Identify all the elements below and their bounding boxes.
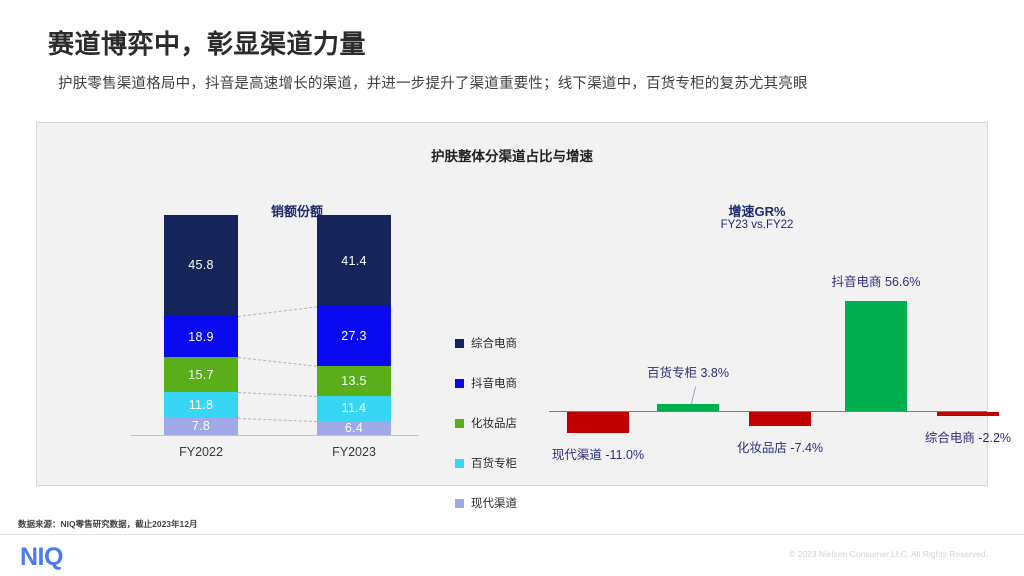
legend-swatch-icon xyxy=(455,419,464,428)
legend-swatch-icon xyxy=(455,339,464,348)
chart-panel-title: 护肤整体分渠道占比与增速 xyxy=(37,145,987,165)
legend-item-label: 百货专柜 xyxy=(471,455,517,471)
stack-segment-value: 6.4 xyxy=(345,421,363,435)
stack-segment-value: 7.8 xyxy=(192,419,210,433)
growth-bar-label: 百货专柜 3.8% xyxy=(618,362,758,381)
source-note: 数据来源：NIQ零售研究数据，截止2023年12月 xyxy=(18,518,197,530)
growth-rate-chart: 增速GR% FY23 vs.FY22 现代渠道 -11.0%百货专柜 3.8%化… xyxy=(527,183,987,483)
growth-label-leader-line xyxy=(691,386,696,404)
page-title: 赛道博弈中，彰显渠道力量 xyxy=(48,24,366,61)
stack-segment: 7.8 xyxy=(164,418,238,435)
growth-bar-label: 综合电商 -2.2% xyxy=(898,427,1024,446)
page-subtitle: 护肤零售渠道格局中，抖音是高速增长的渠道，并进一步提升了渠道重要性；线下渠道中，… xyxy=(58,72,808,93)
stacked-bar-fy2023: 41.427.313.511.46.4 xyxy=(317,215,391,435)
legend-swatch-icon xyxy=(455,459,464,468)
stack-segment: 11.8 xyxy=(164,392,238,418)
growth-chart-subheading: FY23 vs.FY22 xyxy=(527,219,987,231)
copyright-text: © 2023 Nielsen Consumer LLC. All Rights … xyxy=(789,549,988,559)
stack-connector-line xyxy=(238,418,317,422)
stack-connector-line xyxy=(238,306,317,317)
growth-bar-label: 现代渠道 -11.0% xyxy=(528,444,668,463)
stack-segment-value: 13.5 xyxy=(341,374,367,388)
growth-bar-label: 化妆品店 -7.4% xyxy=(710,437,850,456)
growth-bar-抖音电商 xyxy=(845,301,907,411)
stack-segment: 11.4 xyxy=(317,396,391,421)
stack-segment-value: 18.9 xyxy=(188,330,214,344)
stack-segment-value: 15.7 xyxy=(188,368,214,382)
stack-segment: 41.4 xyxy=(317,215,391,306)
stack-segment-value: 41.4 xyxy=(341,254,367,268)
growth-bar-现代渠道 xyxy=(567,412,629,433)
stack-segment: 27.3 xyxy=(317,306,391,366)
chart-panel: 护肤整体分渠道占比与增速 销额份额 45.818.915.711.87.8 41… xyxy=(36,122,988,486)
footer-divider xyxy=(0,534,1024,535)
stack-segment-value: 45.8 xyxy=(188,258,214,272)
stack-segment-value: 27.3 xyxy=(341,329,367,343)
stacked-share-chart: 销额份额 45.818.915.711.87.8 41.427.313.511.… xyxy=(37,183,517,483)
legend-item-现代渠道[interactable]: 现代渠道 xyxy=(455,483,555,523)
growth-bar-label: 抖音电商 56.6% xyxy=(806,271,946,290)
growth-chart-heading: 增速GR% xyxy=(527,201,987,220)
stack-segment-value: 11.4 xyxy=(342,401,367,415)
legend-item-label: 化妆品店 xyxy=(471,415,517,431)
stacked-category-label-fy2022: FY2022 xyxy=(146,445,256,459)
niq-logo: NIQ xyxy=(20,543,63,572)
growth-zero-line xyxy=(549,411,987,412)
stacked-axis-line xyxy=(131,435,419,436)
stack-segment: 45.8 xyxy=(164,215,238,316)
stacked-category-label-fy2023: FY2023 xyxy=(299,445,409,459)
legend-swatch-icon xyxy=(455,499,464,508)
stack-connector-line xyxy=(238,392,317,397)
stack-segment: 6.4 xyxy=(317,421,391,435)
growth-bar-综合电商 xyxy=(937,412,999,416)
legend-item-label: 抖音电商 xyxy=(471,375,517,391)
legend-item-label: 综合电商 xyxy=(471,335,517,351)
stack-connector-line xyxy=(238,357,317,367)
stack-segment: 13.5 xyxy=(317,366,391,396)
growth-bar-百货专柜 xyxy=(657,404,719,411)
stacked-bar-fy2022: 45.818.915.711.87.8 xyxy=(164,215,238,435)
legend-item-label: 现代渠道 xyxy=(471,495,517,511)
stack-segment-value: 11.8 xyxy=(189,398,214,412)
growth-bar-化妆品店 xyxy=(749,412,811,426)
stack-segment: 15.7 xyxy=(164,357,238,392)
stack-segment: 18.9 xyxy=(164,316,238,358)
legend-swatch-icon xyxy=(455,379,464,388)
